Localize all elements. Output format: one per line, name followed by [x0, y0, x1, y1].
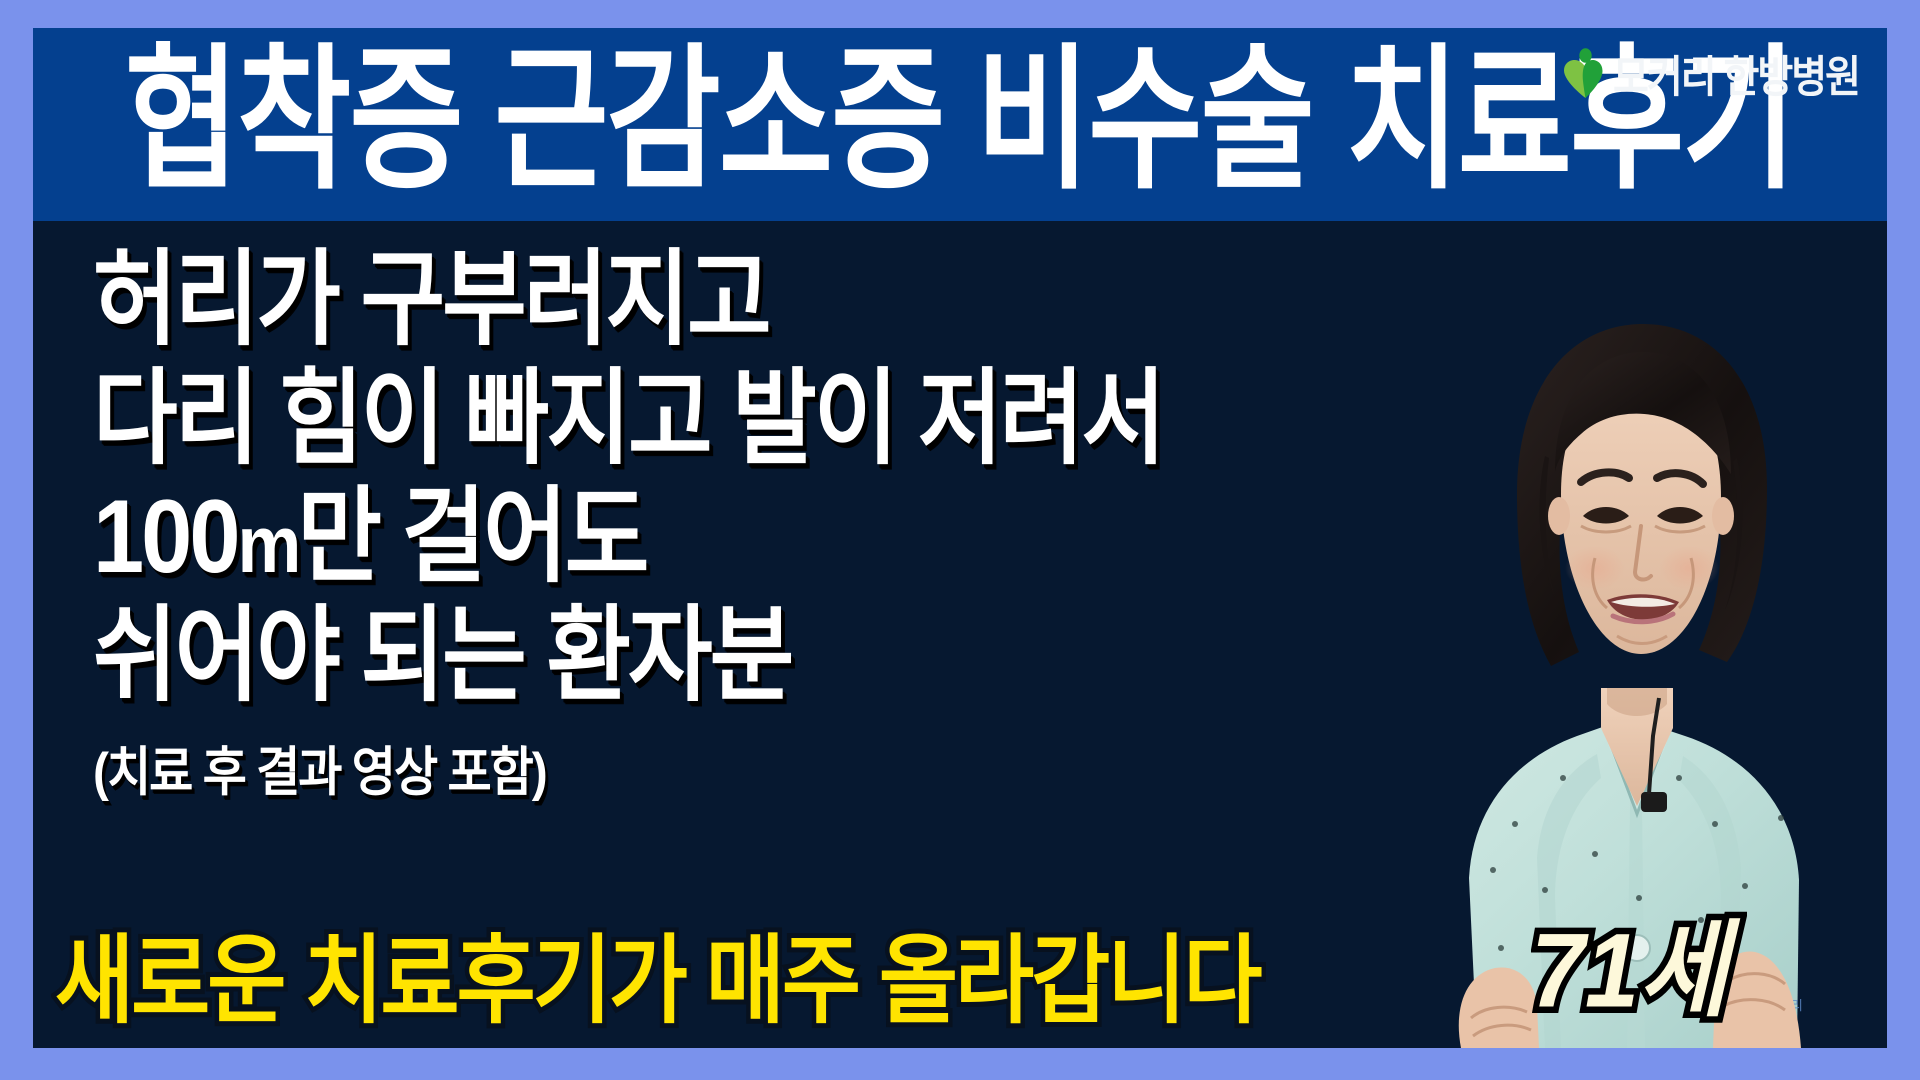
headline-note: (치료 후 결과 영상 포함)	[93, 728, 1433, 805]
promo-banner-text: 새로운 치료후기가 매주 올라갑니다	[55, 902, 1259, 1042]
thumbnail-inner-panel: 협착증 근감소증 비수술 치료후기 모커리 한방병원	[33, 28, 1887, 1048]
headline-line-1: 허리가 구부러지고	[93, 233, 1433, 367]
headline-line-4: 쉬어야 되는 환자분	[93, 589, 1433, 723]
walking-distance-value: 100	[93, 480, 238, 595]
headline-block: 허리가 구부러지고 다리 힘이 빠지고 발이 저려서 100m만 걸어도 쉬어야…	[93, 241, 1433, 802]
video-thumbnail: 협착증 근감소증 비수술 치료후기 모커리 한방병원	[0, 0, 1920, 1080]
headline-line-3: 100m만 걸어도	[93, 471, 1433, 605]
headline-line-2: 다리 힘이 빠지고 발이 저려서	[93, 352, 1433, 486]
page-title: 협착증 근감소증 비수술 치료후기	[125, 43, 1795, 206]
hospital-name: 모커리 한방병원	[1613, 43, 1859, 106]
age-badge: 71세	[1531, 884, 1728, 1036]
leaf-heart-icon	[1561, 48, 1603, 100]
walking-distance-unit: m	[238, 500, 298, 590]
walking-distance-rest: 만 걸어도	[297, 480, 646, 595]
hospital-logo: 모커리 한방병원	[1561, 46, 1859, 102]
